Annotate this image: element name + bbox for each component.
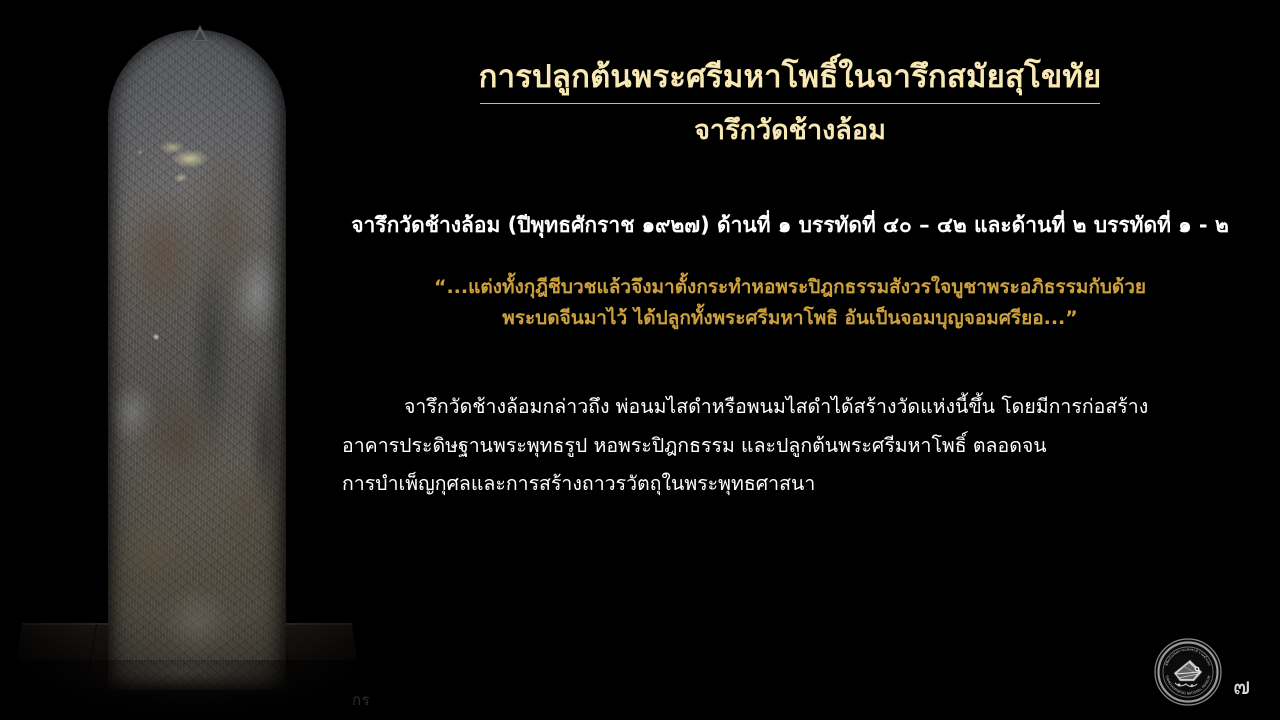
slide-content: การปลูกต้นพระศรีมหาโพธิ์ในจารึกสมัยสุโขท… bbox=[300, 0, 1280, 720]
stele-finial-peak bbox=[192, 25, 208, 41]
quote-line: พระบดจีนมาไว้ ได้ปลูกทั้งพระศรีมหาโพธิ อ… bbox=[340, 303, 1240, 334]
body-line: อาคารประดิษฐานพระพุทธรูป หอพระปิฎกธรรม แ… bbox=[342, 427, 1238, 466]
page-subtitle: จารึกวัดช้างล้อม bbox=[300, 114, 1280, 147]
inscription-quote-block: “...แต่งทั้งกุฎีชีบวชแล้วจึงมาตั้งกระทำห… bbox=[340, 272, 1240, 334]
inscription-reference-line: จารึกวัดช้างล้อม (ปีพุทธศักราช ๑๙๒๗) ด้า… bbox=[300, 212, 1280, 239]
museum-seal-icon: พิพิธภัณฑสถานแห่งชาติ รามคำแหง RAMKHAMHA… bbox=[1152, 636, 1224, 708]
page-number: ๗ bbox=[1233, 676, 1250, 699]
page-title: การปลูกต้นพระศรีมหาโพธิ์ในจารึกสมัยสุโขท… bbox=[300, 58, 1280, 96]
body-line: จารึกวัดช้างล้อมกล่าวถึง พ่อนมไสดำหรือพน… bbox=[342, 388, 1238, 427]
quote-line: “...แต่งทั้งกุฎีชีบวชแล้วจึงมาตั้งกระทำห… bbox=[340, 272, 1240, 303]
presentation-slide: กร การปลูกต้นพระศรีมหาโพธิ์ในจารึกสมัยสุ… bbox=[0, 0, 1280, 720]
title-block: การปลูกต้นพระศรีมหาโพธิ์ในจารึกสมัยสุโขท… bbox=[300, 58, 1280, 148]
body-line: การบำเพ็ญกุศลและการสร้างถาวรวัตถุในพระพุ… bbox=[342, 465, 1238, 504]
body-paragraph: จารึกวัดช้างล้อมกล่าวถึง พ่อนมไสดำหรือพน… bbox=[342, 388, 1238, 504]
title-divider bbox=[480, 103, 1100, 104]
stone-inscription-stele bbox=[108, 30, 286, 690]
